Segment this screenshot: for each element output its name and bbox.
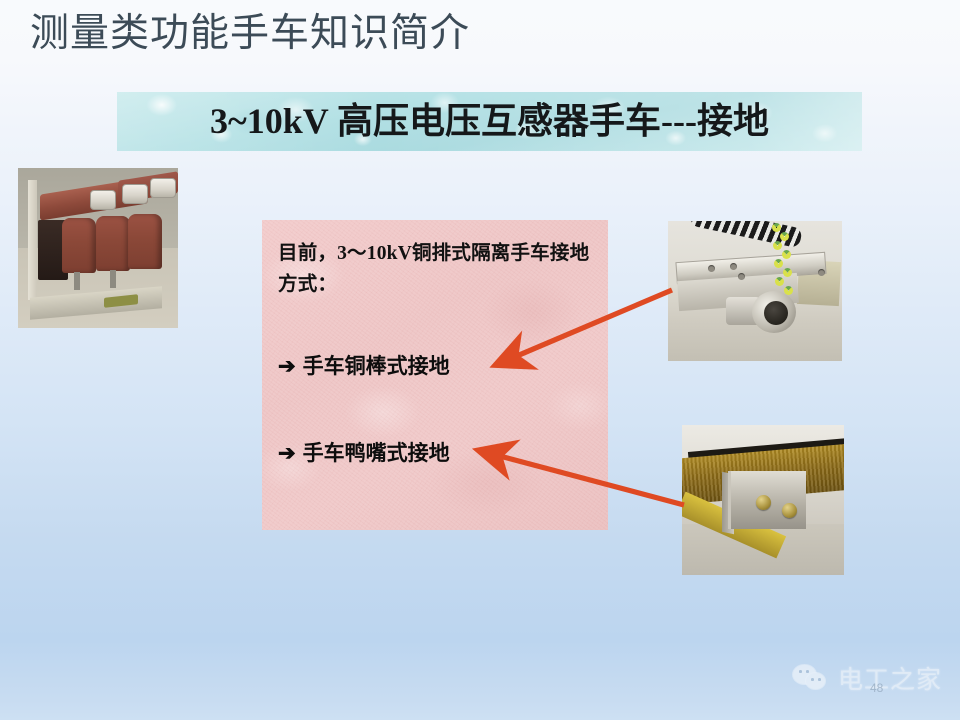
- db-screw-2: [782, 503, 797, 518]
- cr-hole-2: [730, 263, 737, 270]
- page-number: 48: [870, 681, 883, 695]
- vt-bushing-1: [90, 190, 116, 210]
- bullet-duckbill-label: 手车鸭嘴式接地: [303, 437, 450, 467]
- bullet-duckbill: ➔ 手车鸭嘴式接地: [278, 437, 594, 467]
- vt-frame-post: [28, 180, 37, 300]
- banner-title-text: 3~10kV 高压电压互感器手车---接地: [117, 92, 862, 151]
- cr-hole-4: [818, 269, 825, 276]
- intro-paragraph: 目前，3～10kV铜排式隔离手车接地方式：: [278, 238, 594, 300]
- bullet-copper-rod-label: 手车铜棒式接地: [303, 350, 450, 380]
- cr-copper-rod-core: [764, 301, 788, 325]
- bullet-copper-rod: ➔ 手车铜棒式接地: [278, 350, 594, 380]
- arrow-right-icon: ➔: [278, 443, 296, 464]
- vt-bushing-3: [150, 178, 176, 198]
- vt-stand-2: [110, 270, 116, 288]
- arrow-right-icon: ➔: [278, 356, 296, 377]
- photo-duckbill-grounding: [682, 425, 844, 575]
- cr-hole-3: [738, 273, 745, 280]
- vt-pole-1: [62, 218, 96, 273]
- vt-pole-3: [128, 214, 162, 269]
- watermark: 电工之家: [793, 660, 942, 696]
- section-title-banner: 3~10kV 高压电压互感器手车---接地: [117, 92, 862, 151]
- cr-hole-1: [708, 265, 715, 272]
- vt-bushing-2: [122, 184, 148, 204]
- vt-pole-2: [96, 216, 130, 271]
- vt-stand-1: [74, 272, 80, 290]
- photo-vt-trolley: [18, 168, 178, 328]
- watermark-label: 电工之家: [838, 660, 942, 696]
- wechat-bubble-small: [806, 673, 825, 689]
- content-card: 目前，3～10kV铜排式隔离手车接地方式： ➔ 手车铜棒式接地 ➔ 手车鸭嘴式接…: [262, 220, 608, 530]
- db-screw-1: [756, 495, 771, 510]
- page-title: 测量类功能手车知识简介: [30, 8, 470, 60]
- wechat-icon: [793, 664, 829, 692]
- photo-copper-rod-grounding: [668, 221, 842, 361]
